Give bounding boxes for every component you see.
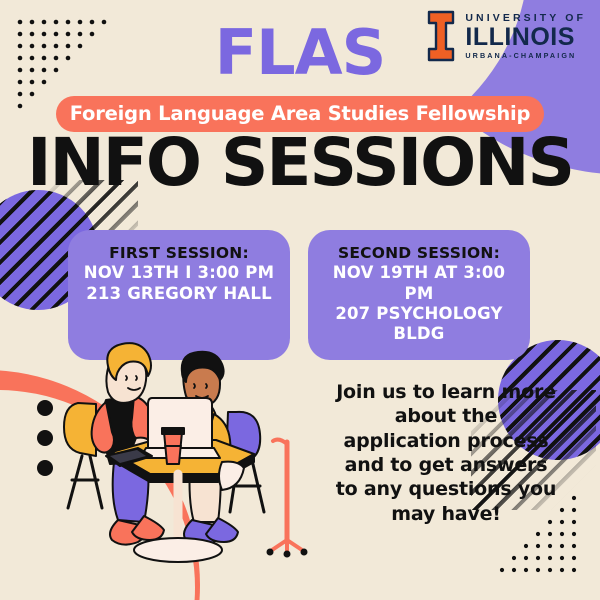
session-datetime: NOV 19TH AT 3:00 PM [320,263,518,303]
session-location: 213 GREGORY HALL [80,284,278,304]
session-label: SECOND SESSION: [320,244,518,263]
session-card-second: SECOND SESSION: NOV 19TH AT 3:00 PM 207 … [308,230,530,360]
session-label: FIRST SESSION: [80,244,278,263]
session-datetime: NOV 13TH I 3:00 PM [80,263,278,283]
blurb-text: Join us to learn more about the applicat… [334,380,558,526]
two-people-at-table-illustration [58,340,318,575]
coat-rack [267,440,308,558]
poster-canvas: UNIVERSITY OF ILLINOIS URBANA-CHAMPAIGN … [0,0,600,600]
session-location: 207 PSYCHOLOGY BLDG [320,304,518,344]
page-title: FLAS [0,22,600,84]
headline: INFO SESSIONS [0,130,600,196]
